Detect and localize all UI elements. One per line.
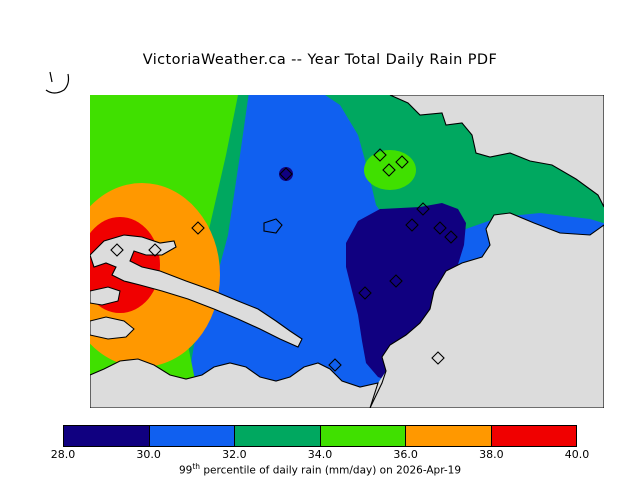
colorbar-band-3	[321, 426, 407, 446]
caption-rest: percentile of daily rain (mm/day) on 202…	[200, 465, 461, 477]
colorbar-band-4	[406, 426, 492, 446]
colorbar-legend: 28.030.032.034.036.038.040.0 99th percen…	[0, 421, 640, 480]
colorbar-tick-1: 30.0	[136, 448, 161, 461]
caption-superscript: th	[192, 462, 200, 471]
colorbar-ticks: 28.030.032.034.036.038.040.0	[0, 448, 640, 462]
contour-hotspot-34-36-north	[364, 150, 416, 190]
colorbar-band-5	[492, 426, 577, 446]
colorbar-tick-6: 40.0	[565, 448, 590, 461]
weather-map-page: VictoriaWeather.ca -- Year Total Daily R…	[0, 0, 640, 480]
caption-prefix: 99	[179, 465, 192, 477]
colorbar-band-0	[64, 426, 150, 446]
colorbar-band-2	[235, 426, 321, 446]
map-canvas	[90, 95, 604, 408]
colorbar-tick-2: 32.0	[222, 448, 247, 461]
colorbar-tick-3: 34.0	[308, 448, 333, 461]
colorbar-tick-4: 36.0	[393, 448, 418, 461]
colorbar-bands	[63, 425, 577, 447]
colorbar-band-1	[150, 426, 236, 446]
colorbar-caption: 99th percentile of daily rain (mm/day) o…	[0, 462, 640, 477]
colorbar-tick-5: 38.0	[479, 448, 504, 461]
contour-map-plot	[90, 95, 604, 408]
colorbar-tick-0: 28.0	[51, 448, 76, 461]
